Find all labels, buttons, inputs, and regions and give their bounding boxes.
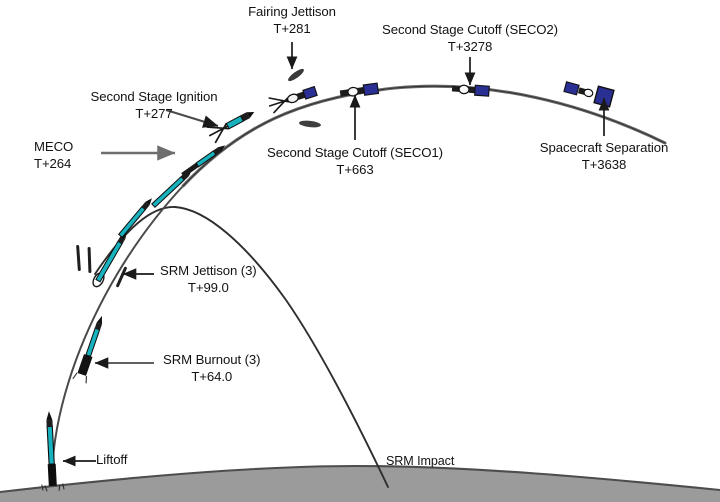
seco1-label-line2: T+663 [255,162,455,179]
srm-motor-3 [116,266,128,287]
ground-fill [0,466,720,502]
seco1-label-line1: Second Stage Cutoff (SECO1) [255,145,455,162]
fairing-jettison-label-line2: T+281 [232,21,352,38]
label-second-stage-ignition: Second Stage Ignition T+277 [74,89,234,122]
srm-burnout-label-line1: SRM Burnout (3) [163,352,260,369]
srm-impact-trajectory [95,207,388,487]
label-liftoff: Liftoff [96,452,127,469]
label-seco1: Second Stage Cutoff (SECO1) T+663 [255,145,455,178]
mission-profile-diagram: Liftoff SRM Burnout (3) T+64.0 SRM Jetti… [0,0,720,502]
ascent-trajectory-lower [52,186,183,474]
label-srm-burnout: SRM Burnout (3) T+64.0 [163,352,260,385]
label-fairing-jettison: Fairing Jettison T+281 [232,4,352,37]
srm-motor-2 [88,247,92,273]
vehicle-srm-jettison-icon [91,228,131,288]
srm-impact-label-line1: SRM Impact [386,454,454,470]
fairing-jettison-label-line1: Fairing Jettison [232,4,352,21]
spacecraft-separation-icon [563,78,614,107]
second-stage-ignition-label-line2: T+277 [74,106,234,123]
fairing-half-lower [299,120,322,129]
srm-jettison-label-line1: SRM Jettison (3) [160,263,257,280]
label-spacecraft-separation: Spacecraft Separation T+3638 [524,140,684,173]
seco2-label-line2: T+3278 [370,39,570,56]
vehicle-meco-icon [181,143,227,177]
vehicle-ascent-icon-1 [118,197,154,238]
ground-group [0,466,720,502]
spacecraft-separation-label-line1: Spacecraft Separation [524,140,684,157]
fairing-half-upper [287,67,306,83]
srm-jettison-label-line2: T+99.0 [160,280,257,297]
spent-stage [564,82,579,95]
meco-label-line1: MECO [34,139,73,156]
srm-motor-1 [76,245,81,271]
label-srm-jettison: SRM Jettison (3) T+99.0 [160,263,257,296]
vehicle-fairing-jettison-icon [267,83,319,113]
seco2-label-line1: Second Stage Cutoff (SECO2) [370,22,570,39]
label-srm-impact: SRM Impact [386,454,454,470]
srm-burnout-label-line2: T+64.0 [163,369,260,386]
second-stage-ignition-label-line1: Second Stage Ignition [74,89,234,106]
vehicle-liftoff-icon [38,411,64,492]
label-meco: MECO T+264 [34,139,73,172]
label-seco2: Second Stage Cutoff (SECO2) T+3278 [370,22,570,55]
diagram-canvas [0,0,720,502]
fairing-sep-burst [267,92,292,114]
meco-label-line2: T+264 [34,156,73,173]
spacecraft-separation-label-line2: T+3638 [524,157,684,174]
srm-jettisoned-motors [76,245,127,288]
liftoff-label-line1: Liftoff [96,452,127,469]
